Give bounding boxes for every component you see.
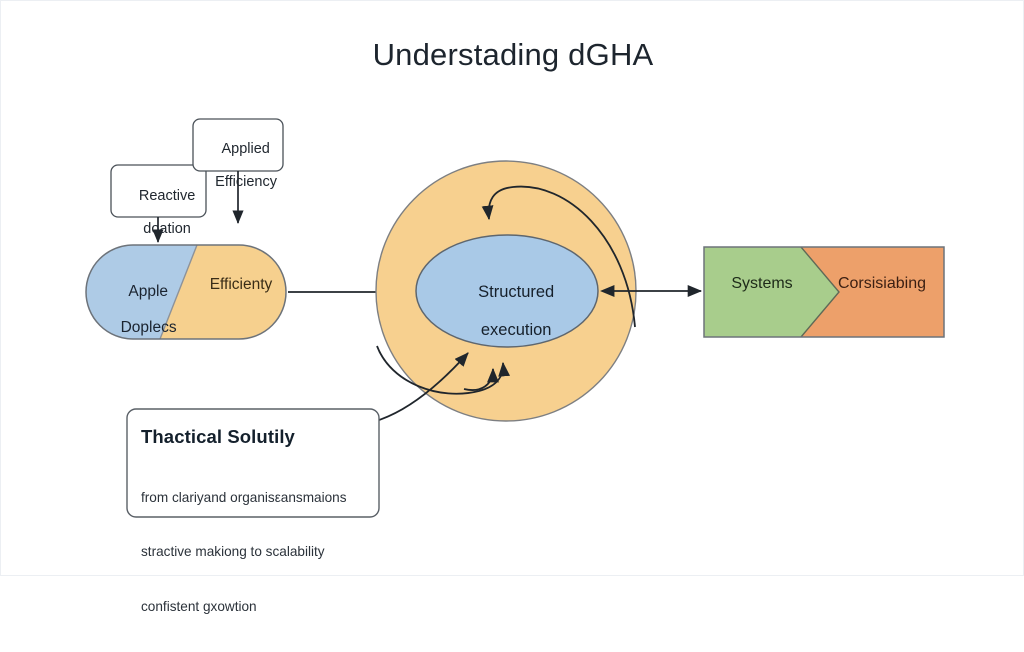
diagram-canvas: Understading dGHA <box>0 0 1024 576</box>
core-inner-ellipse <box>416 235 598 347</box>
callout-box-applied <box>193 119 283 171</box>
note-body-line-3: confistent gxowtion <box>141 598 386 616</box>
note-box <box>127 409 379 517</box>
diagram-shapes <box>1 1 1024 577</box>
callout-box-reactive <box>111 165 206 217</box>
